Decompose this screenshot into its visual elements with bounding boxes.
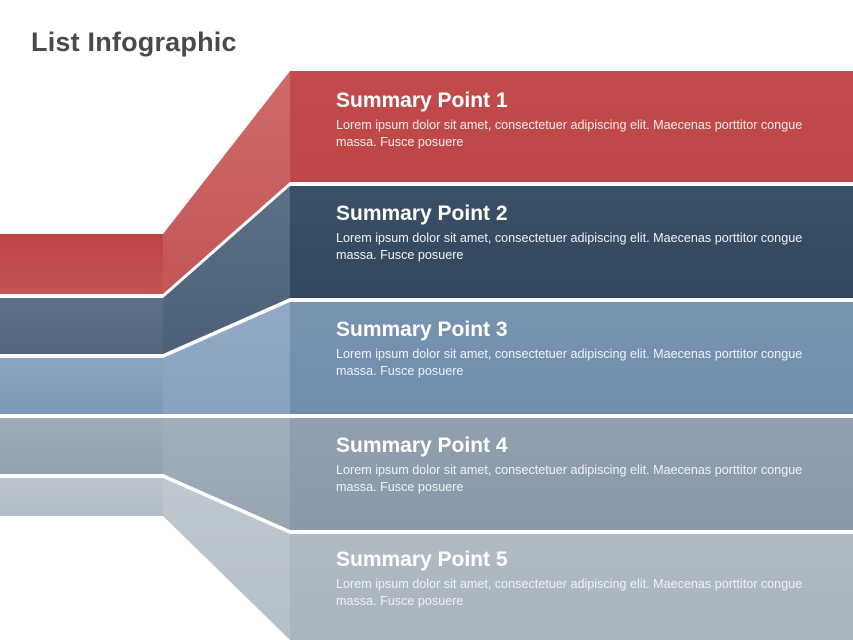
panel-3-body: Lorem ipsum dolor sit amet, consectetuer… xyxy=(336,346,828,382)
panel-5-heading: Summary Point 5 xyxy=(336,548,836,572)
panel-5-text: Summary Point 5 Lorem ipsum dolor sit am… xyxy=(336,548,836,611)
panel-2-body: Lorem ipsum dolor sit amet, consectetuer… xyxy=(336,230,828,266)
infographic-slide: List Infographic xyxy=(0,0,853,640)
panel-4-heading: Summary Point 4 xyxy=(336,434,836,458)
panel-2-heading: Summary Point 2 xyxy=(336,202,836,226)
panel-1-heading: Summary Point 1 xyxy=(336,89,836,113)
panel-text-layer: Summary Point 1 Lorem ipsum dolor sit am… xyxy=(0,0,853,640)
panel-4-body: Lorem ipsum dolor sit amet, consectetuer… xyxy=(336,462,828,498)
panel-4-text: Summary Point 4 Lorem ipsum dolor sit am… xyxy=(336,434,836,497)
panel-3-text: Summary Point 3 Lorem ipsum dolor sit am… xyxy=(336,318,836,381)
panel-2-text: Summary Point 2 Lorem ipsum dolor sit am… xyxy=(336,202,836,265)
panel-1-text: Summary Point 1 Lorem ipsum dolor sit am… xyxy=(336,89,836,152)
panel-1-body: Lorem ipsum dolor sit amet, consectetuer… xyxy=(336,117,828,153)
panel-3-heading: Summary Point 3 xyxy=(336,318,836,342)
panel-5-body: Lorem ipsum dolor sit amet, consectetuer… xyxy=(336,576,828,612)
